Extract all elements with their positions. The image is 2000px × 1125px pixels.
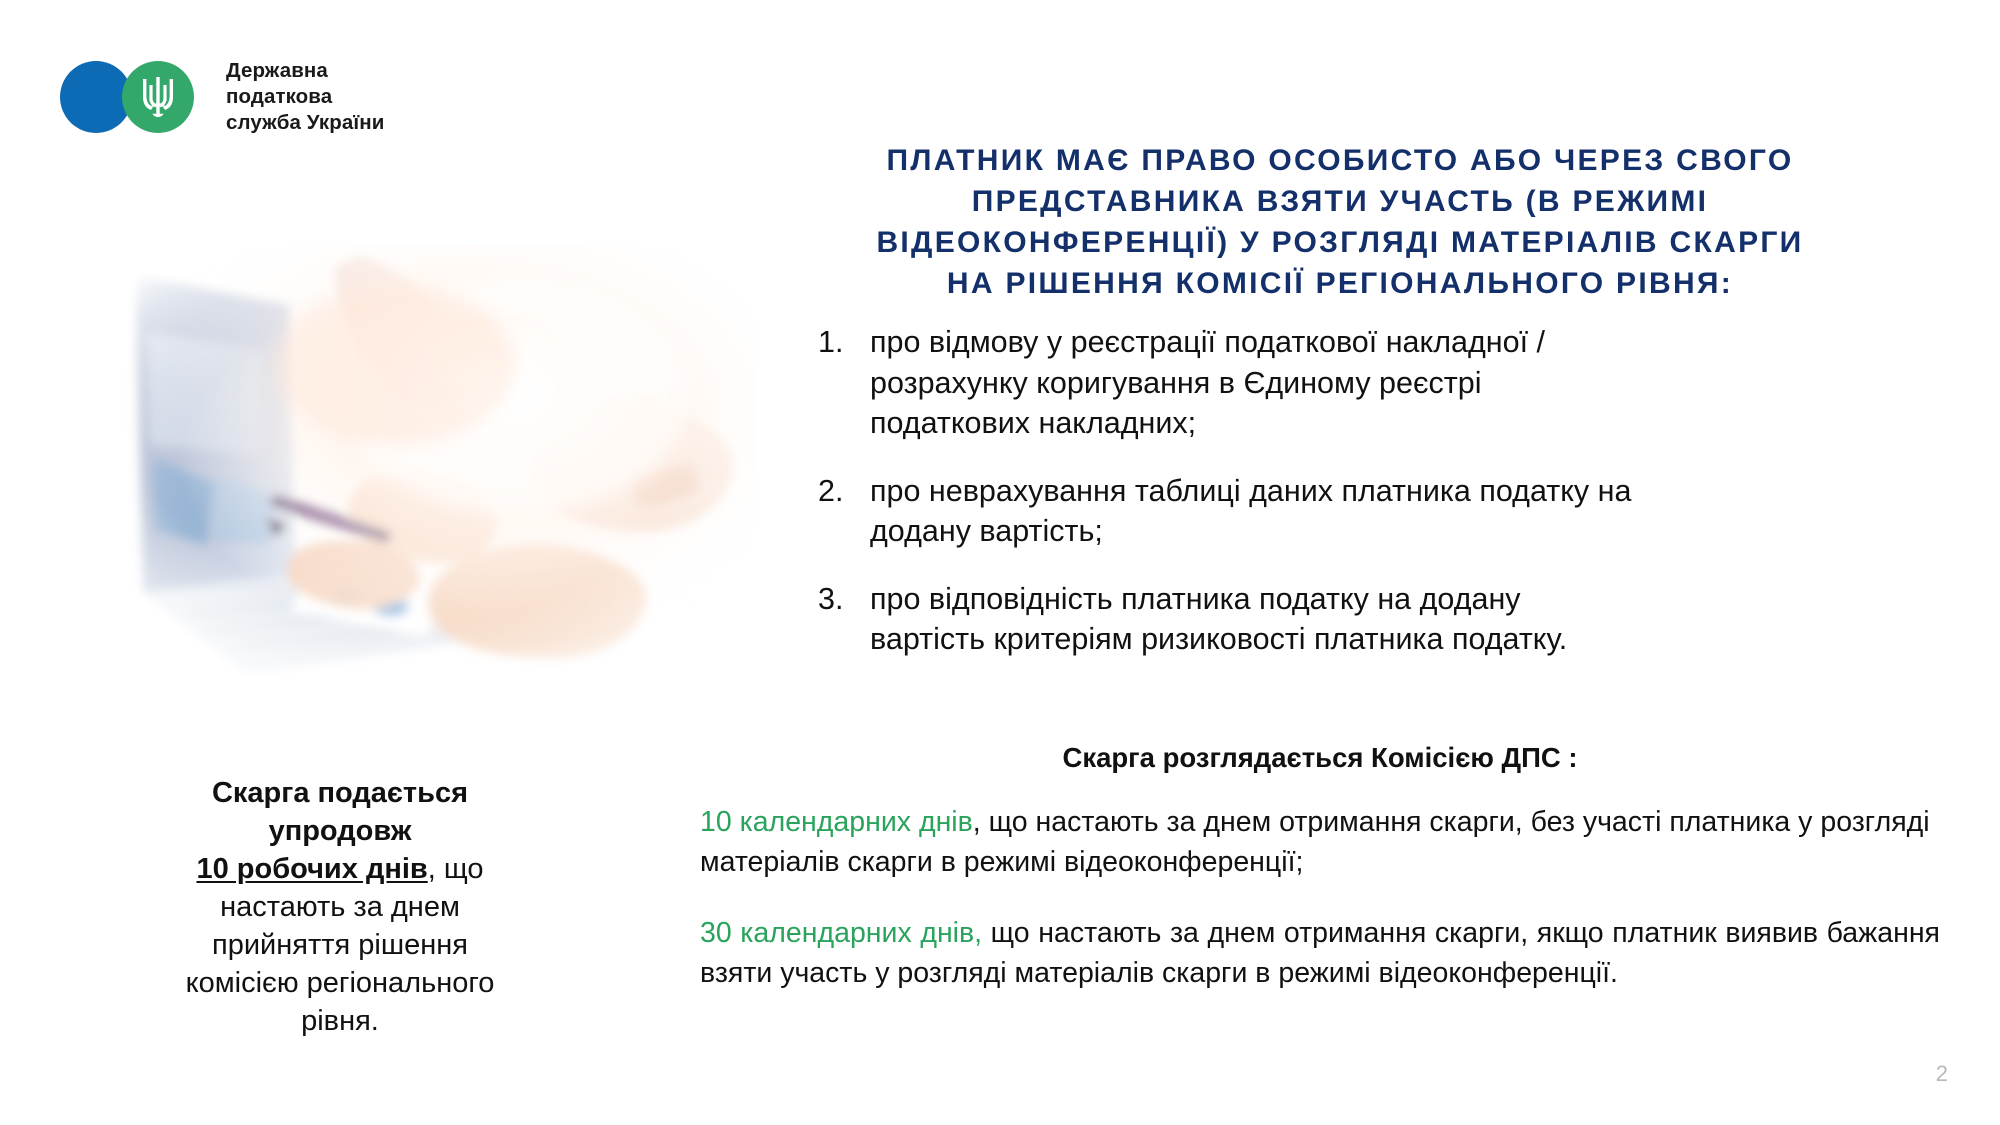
review-section-heading: Скарга розглядається Комісією ДПС : — [700, 742, 1940, 774]
page-title: ПЛАТНИК МАЄ ПРАВО ОСОБИСТО АБО ЧЕРЕЗ СВО… — [740, 140, 1940, 304]
filing-deadline-days: 10 робочих днів — [196, 853, 427, 885]
organization-logo: Державна податкова служба України — [60, 58, 384, 135]
review-paragraph-30-days: 30 календарних днів, що настають за днем… — [700, 913, 1940, 994]
filing-deadline-note: Скарга подається упродовж 10 робочих дні… — [160, 775, 520, 1041]
accent-30-calendar-days: 30 календарних днів, — [700, 917, 982, 949]
list-item: 2. про неврахування таблиці даних платни… — [818, 471, 1878, 552]
list-item-marker: 2. — [818, 471, 870, 512]
list-item-text: про неврахування таблиці даних платника … — [870, 471, 1878, 552]
logo-organization-name: Державна податкова служба України — [226, 58, 384, 135]
logo-marks — [60, 61, 212, 133]
hands-on-laptop-photo — [95, 245, 755, 675]
page-number: 2 — [1936, 1061, 1948, 1087]
list-item: 1. про відмову у реєстрації податкової н… — [818, 322, 1878, 444]
filing-deadline-bold-line-2: упродовж — [269, 815, 412, 847]
list-item-text: про відповідність платника податку на до… — [870, 579, 1878, 660]
review-paragraph-10-days: 10 календарних днів, що настають за днем… — [700, 802, 1940, 883]
list-item-marker: 3. — [818, 579, 870, 620]
accent-10-calendar-days: 10 календарних днів — [700, 806, 973, 838]
filing-deadline-bold-line-1: Скарга подається — [212, 777, 468, 809]
list-item-marker: 1. — [818, 322, 870, 363]
list-item-text: про відмову у реєстрації податкової накл… — [870, 322, 1878, 444]
appeal-subjects-list: 1. про відмову у реєстрації податкової н… — [818, 322, 1878, 687]
trident-icon — [122, 61, 194, 133]
list-item: 3. про відповідність платника податку на… — [818, 579, 1878, 660]
